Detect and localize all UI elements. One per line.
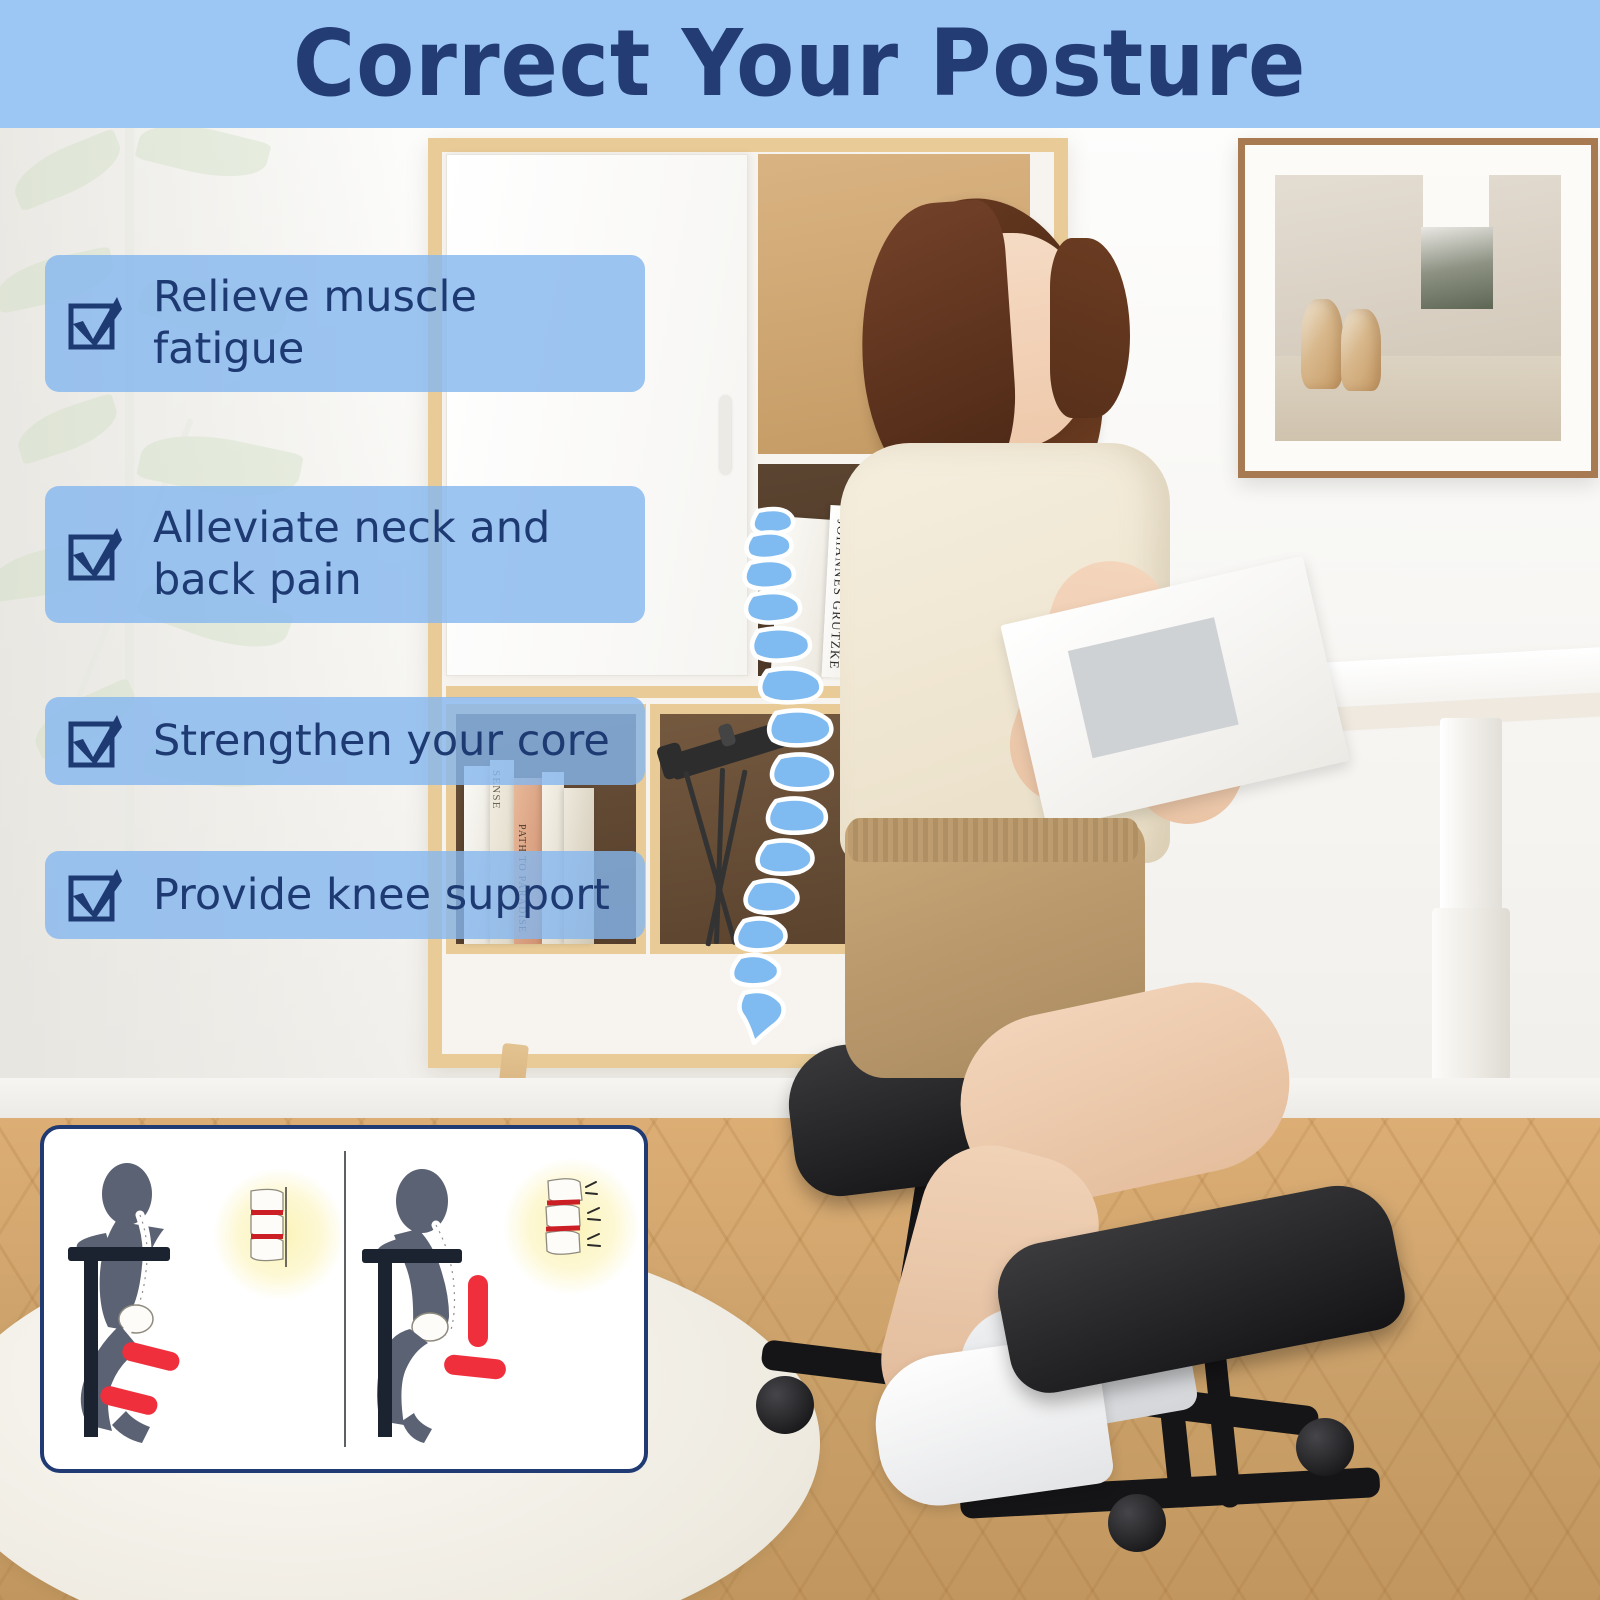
feature-line: Strengthen your core: [153, 715, 610, 767]
feature-line: back pain: [153, 554, 550, 606]
feature-text: Relieve muscle fatigue: [153, 271, 623, 376]
feature-text: Provide knee support: [153, 869, 610, 921]
checkbox-checked-icon: [67, 526, 123, 582]
caster-wheel: [1108, 1494, 1166, 1552]
page-title: Correct Your Posture: [293, 18, 1306, 110]
checkbox-checked-icon: [67, 713, 123, 769]
feature-line: Relieve muscle fatigue: [153, 271, 623, 376]
spine-vertebrae-icon: [718, 503, 848, 1048]
vase-right: [1341, 309, 1381, 391]
artwork-image: [1275, 175, 1561, 441]
caster-wheel: [756, 1376, 814, 1434]
slouched-figure: [44, 1129, 344, 1469]
posture-comparison-panel: [40, 1125, 648, 1473]
slouched-posture-illustration: [44, 1129, 344, 1469]
vase-left: [1301, 299, 1343, 389]
feature-text: Alleviate neck and back pain: [153, 502, 550, 607]
feature-line: Alleviate neck and: [153, 502, 550, 554]
caster-wheel: [1296, 1418, 1354, 1476]
framed-wall-art: [1238, 138, 1598, 478]
checkbox-checked-icon: [67, 867, 123, 923]
feature-item-provide-knee-support[interactable]: Provide knee support: [45, 851, 645, 939]
feature-line: Provide knee support: [153, 869, 610, 921]
feature-item-relieve-muscle-fatigue[interactable]: Relieve muscle fatigue: [45, 255, 645, 392]
banner-header: Correct Your Posture: [0, 0, 1600, 128]
feature-item-strengthen-your-core[interactable]: Strengthen your core: [45, 697, 645, 785]
feature-list: Relieve muscle fatigue Alleviate neck an…: [45, 255, 645, 939]
shorts-waistband: [848, 818, 1138, 862]
upright-posture-illustration: [344, 1129, 644, 1469]
feature-item-alleviate-neck-and-back-pain[interactable]: Alleviate neck and back pain: [45, 486, 645, 623]
product-banner: JOHANNES GRÜTZKE GRÜTZKE SENSE PATH TO P…: [0, 0, 1600, 1600]
checkbox-checked-icon: [67, 295, 123, 351]
spine-detail-healthy: [530, 1173, 620, 1268]
feature-text: Strengthen your core: [153, 715, 610, 767]
cabinet-door-handle[interactable]: [720, 396, 731, 474]
spine-detail-compressed: [239, 1185, 319, 1275]
